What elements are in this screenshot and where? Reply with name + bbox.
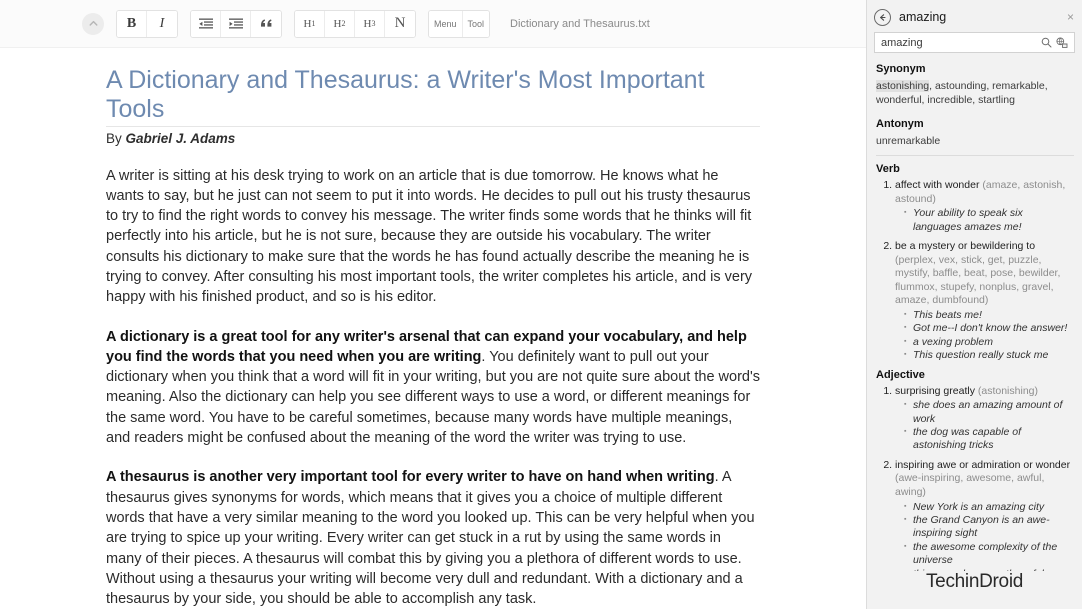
blockquote-button[interactable] — [251, 11, 281, 37]
heading1-sub: 1 — [311, 19, 315, 28]
translate-icon[interactable] — [1054, 37, 1070, 48]
heading-group: H1 H2 H3 N — [294, 10, 416, 38]
close-icon[interactable]: × — [1065, 12, 1076, 22]
verb-definitions: affect with wonder (amaze, astonish, ast… — [876, 179, 1074, 363]
example-item: a vexing problem — [904, 336, 1074, 349]
heading3-label: H — [364, 18, 372, 30]
search-value[interactable]: amazing — [881, 37, 1038, 49]
heading1-button[interactable]: H1 — [295, 11, 325, 37]
example-item: Your ability to speak six languages amaz… — [904, 207, 1074, 234]
definition-item: surprising greatly (astonishing) she doe… — [895, 385, 1074, 453]
paragraph-lead-bold: A thesaurus is another very important to… — [106, 469, 715, 485]
adjective-definitions: surprising greatly (astonishing) she doe… — [876, 385, 1074, 571]
indent-decrease-button[interactable] — [191, 11, 221, 37]
title-divider — [106, 126, 760, 127]
example-item: New York is an amazing city — [904, 501, 1074, 514]
heading2-sub: 2 — [341, 19, 345, 28]
definition-gloss: (perplex, vex, stick, get, puzzle, mysti… — [895, 254, 1060, 307]
antonym-heading: Antonym — [876, 118, 1074, 130]
paragraph-text: A writer is sitting at his desk trying t… — [106, 168, 752, 306]
editor-pane: B I — [0, 0, 866, 609]
example-list: Your ability to speak six languages amaz… — [895, 207, 1074, 234]
heading2-button[interactable]: H2 — [325, 11, 355, 37]
search-icon[interactable] — [1038, 37, 1054, 48]
author-name: Gabriel J. Adams — [126, 131, 236, 146]
verb-heading: Verb — [876, 163, 1074, 175]
tool-button[interactable]: Tool — [463, 11, 490, 37]
indent-left-icon — [199, 18, 213, 30]
heading3-button[interactable]: H3 — [355, 11, 385, 37]
synonym-heading: Synonym — [876, 63, 1074, 75]
app-window: B I — [0, 0, 1082, 609]
definition-gloss: (astonishing) — [978, 385, 1038, 397]
definition-text: inspiring awe or admiration or wonder — [895, 459, 1070, 471]
paragraph-text: . A thesaurus gives synonyms for words, … — [106, 469, 755, 607]
indent-increase-button[interactable] — [221, 11, 251, 37]
heading3-sub: 3 — [371, 19, 375, 28]
indent-group — [190, 10, 282, 38]
paragraph: A dictionary is a great tool for any wri… — [106, 327, 760, 449]
example-item: the dog was capable of astonishing trick… — [904, 426, 1074, 453]
byline: By Gabriel J. Adams — [106, 131, 760, 146]
definition-text: be a mystery or bewildering to — [895, 240, 1035, 252]
page-title: A Dictionary and Thesaurus: a Writer's M… — [106, 66, 760, 124]
heading1-label: H — [304, 18, 312, 30]
definition-gloss: (awe-inspiring, awesome, awful, awing) — [895, 472, 1044, 498]
indent-right-icon — [229, 18, 243, 30]
example-list: she does an amazing amount of work the d… — [895, 399, 1074, 453]
heading2-label: H — [334, 18, 342, 30]
editor-toolbar: B I — [0, 0, 866, 48]
paragraph: A writer is sitting at his desk trying t… — [106, 166, 760, 308]
definition-item: inspiring awe or admiration or wonder (a… — [895, 459, 1074, 571]
synonym-list: astonishing, astounding, remarkable, won… — [876, 79, 1074, 107]
example-list: This beats me! Got me--I don't know the … — [895, 309, 1074, 363]
panel-header: amazing × — [867, 5, 1082, 29]
example-list: New York is an amazing city the Grand Ca… — [895, 501, 1074, 571]
definition-item: affect with wonder (amaze, astonish, ast… — [895, 179, 1074, 234]
example-item: This beats me! — [904, 309, 1074, 322]
synonym-highlighted: astonishing — [876, 80, 929, 92]
back-arrow-icon[interactable] — [874, 9, 891, 26]
menu-tool-group: Menu Tool — [428, 10, 490, 38]
search-input[interactable]: amazing — [874, 32, 1075, 53]
paragraph: A thesaurus is another very important to… — [106, 467, 760, 609]
document-body[interactable]: A Dictionary and Thesaurus: a Writer's M… — [0, 48, 866, 609]
definition-text: surprising greatly — [895, 385, 978, 397]
bold-button[interactable]: B — [117, 11, 147, 37]
example-item: Got me--I don't know the answer! — [904, 322, 1074, 335]
text-style-group: B I — [116, 10, 178, 38]
menu-button[interactable]: Menu — [429, 11, 463, 37]
italic-button[interactable]: I — [147, 11, 177, 37]
example-item: the Grand Canyon is an awe-inspiring sig… — [904, 514, 1074, 541]
byline-prefix: By — [106, 131, 126, 146]
section-divider — [876, 155, 1074, 156]
dictionary-panel: amazing × amazing Synonym astonish — [866, 0, 1082, 609]
example-item: this sea, whose gently awful stirrings s… — [904, 568, 1074, 571]
quote-icon — [260, 18, 273, 29]
example-item: the awesome complexity of the universe — [904, 541, 1074, 568]
watermark: TechinDroid — [867, 571, 1082, 609]
definition-item: be a mystery or bewildering to (perplex,… — [895, 240, 1074, 363]
definition-text: affect with wonder — [895, 179, 982, 191]
example-item: This question really stuck me — [904, 349, 1074, 362]
home-chevron-icon[interactable] — [82, 13, 104, 35]
normal-text-button[interactable]: N — [385, 11, 415, 37]
example-item: she does an amazing amount of work — [904, 399, 1074, 426]
panel-word-title: amazing — [899, 10, 1065, 24]
filename-label: Dictionary and Thesaurus.txt — [510, 18, 650, 30]
antonym-list: unremarkable — [876, 134, 1074, 148]
adjective-heading: Adjective — [876, 369, 1074, 381]
panel-content: Synonym astonishing, astounding, remarka… — [867, 53, 1082, 571]
